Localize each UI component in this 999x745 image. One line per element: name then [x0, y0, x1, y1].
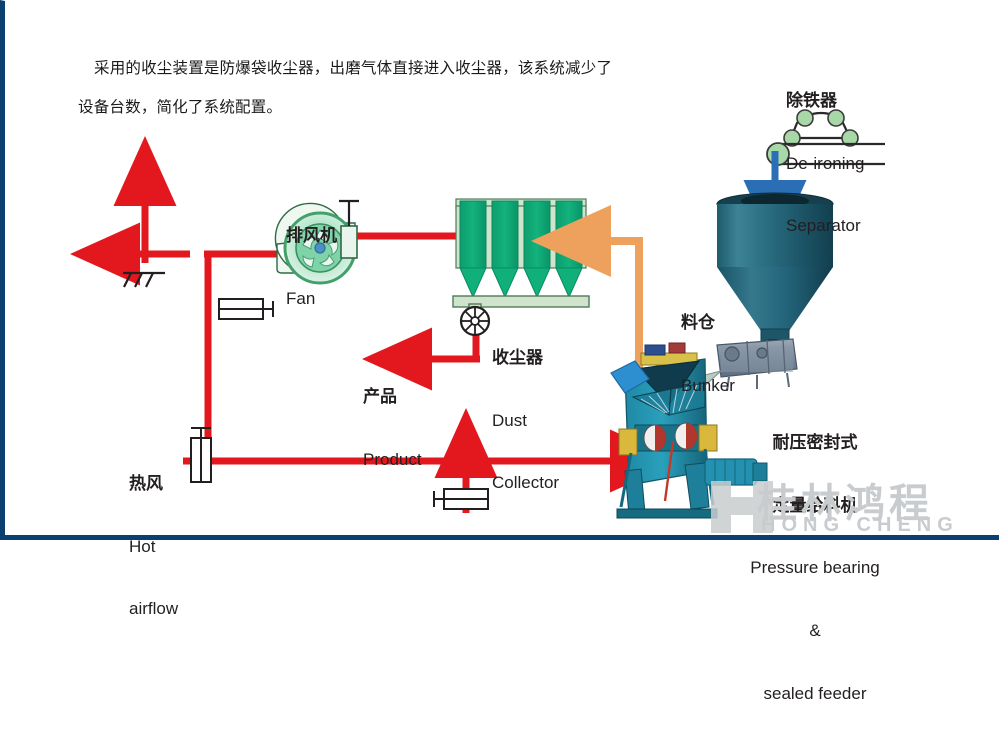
label-fan-cn: 排风机	[286, 225, 337, 247]
diagram-page: 采用的收尘装置是防爆袋收尘器，出磨气体直接进入收尘器，该系统减少了 设备台数，简…	[0, 0, 999, 540]
rotary-airlock-icon[interactable]	[461, 307, 489, 335]
label-deironing-en1: De-ironing	[786, 153, 864, 175]
damper-valve-icon-bottom[interactable]	[434, 489, 488, 509]
watermark-en: HONG CHENG	[761, 513, 959, 539]
label-product-cn: 产品	[363, 386, 422, 408]
label-feeder-cn1: 耐压密封式	[725, 432, 905, 454]
label-deironing: 除铁器 De-ironing Separator	[786, 49, 864, 278]
label-fan: 排风机 Fan	[286, 184, 337, 350]
label-feeder-en3: sealed feeder	[725, 683, 905, 705]
label-feeder: 耐压密封式 定量给料机 Pressure bearing & sealed fe…	[725, 391, 905, 745]
page-caption: 采用的收尘装置是防爆袋收尘器，出磨气体直接进入收尘器，该系统减少了 设备台数，简…	[60, 19, 700, 138]
caption-line-1: 采用的收尘装置是防爆袋收尘器，出磨气体直接进入收尘器，该系统减少了	[60, 59, 700, 79]
label-hot-airflow-en1: Hot	[129, 536, 178, 558]
label-product-en: Product	[363, 449, 422, 471]
label-dust-collector: 收尘器 Dust Collector	[492, 306, 559, 535]
mill-gas-outlet-duct	[603, 241, 643, 391]
label-hot-airflow-en2: airflow	[129, 598, 178, 620]
label-dust-collector-en2: Collector	[492, 472, 559, 494]
caption-line-2: 设备台数，简化了系统配置。	[78, 99, 282, 116]
label-deironing-en2: Separator	[786, 215, 864, 237]
label-fan-en: Fan	[286, 288, 337, 310]
label-bunker-cn: 料仓	[681, 312, 735, 334]
label-hot-airflow: 热风 Hot airflow	[129, 432, 178, 661]
label-feeder-en2: &	[725, 620, 905, 642]
label-product: 产品 Product	[363, 345, 422, 511]
label-deironing-cn: 除铁器	[786, 90, 864, 112]
ground-hatch-icon	[123, 273, 165, 287]
label-feeder-en1: Pressure bearing	[725, 557, 905, 579]
label-dust-collector-en1: Dust	[492, 410, 559, 432]
label-hot-airflow-cn: 热风	[129, 473, 178, 495]
damper-valve-icon-left[interactable]	[219, 299, 273, 319]
label-dust-collector-cn: 收尘器	[492, 347, 559, 369]
damper-valve-icon-hotair[interactable]	[191, 428, 211, 482]
